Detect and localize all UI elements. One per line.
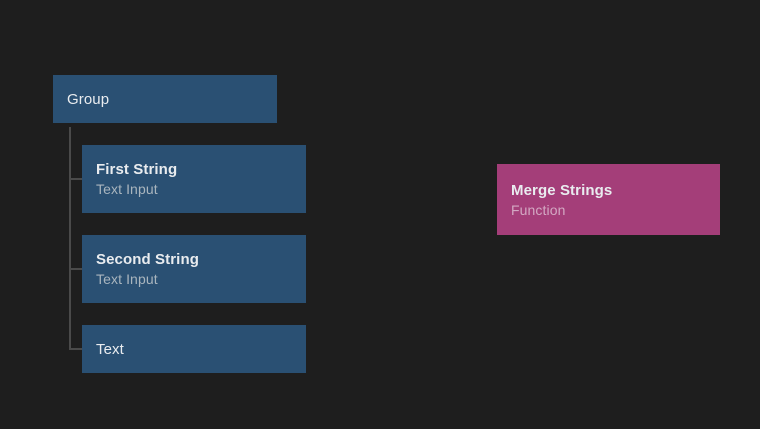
node-graph-canvas: Group First String Text Input Second Str… [0, 0, 760, 429]
group-header-title: Group [67, 90, 277, 109]
node-subtitle: Text Input [96, 270, 306, 288]
tree-branch-line [69, 268, 82, 270]
node-title: Merge Strings [511, 181, 720, 200]
node-title: Second String [96, 250, 306, 269]
function-node[interactable]: Merge Strings Function [497, 164, 720, 235]
node-subtitle: Text Input [96, 180, 306, 198]
group-child-node[interactable]: Second String Text Input [82, 235, 306, 303]
tree-branch-line [69, 178, 82, 180]
group-header-node[interactable]: Group [53, 75, 277, 123]
tree-trunk-line [69, 127, 71, 350]
node-title: Text [96, 340, 306, 359]
tree-branch-line [69, 348, 82, 350]
group-child-node[interactable]: Text [82, 325, 306, 373]
group-child-node[interactable]: First String Text Input [82, 145, 306, 213]
node-subtitle: Function [511, 201, 720, 219]
node-title: First String [96, 160, 306, 179]
